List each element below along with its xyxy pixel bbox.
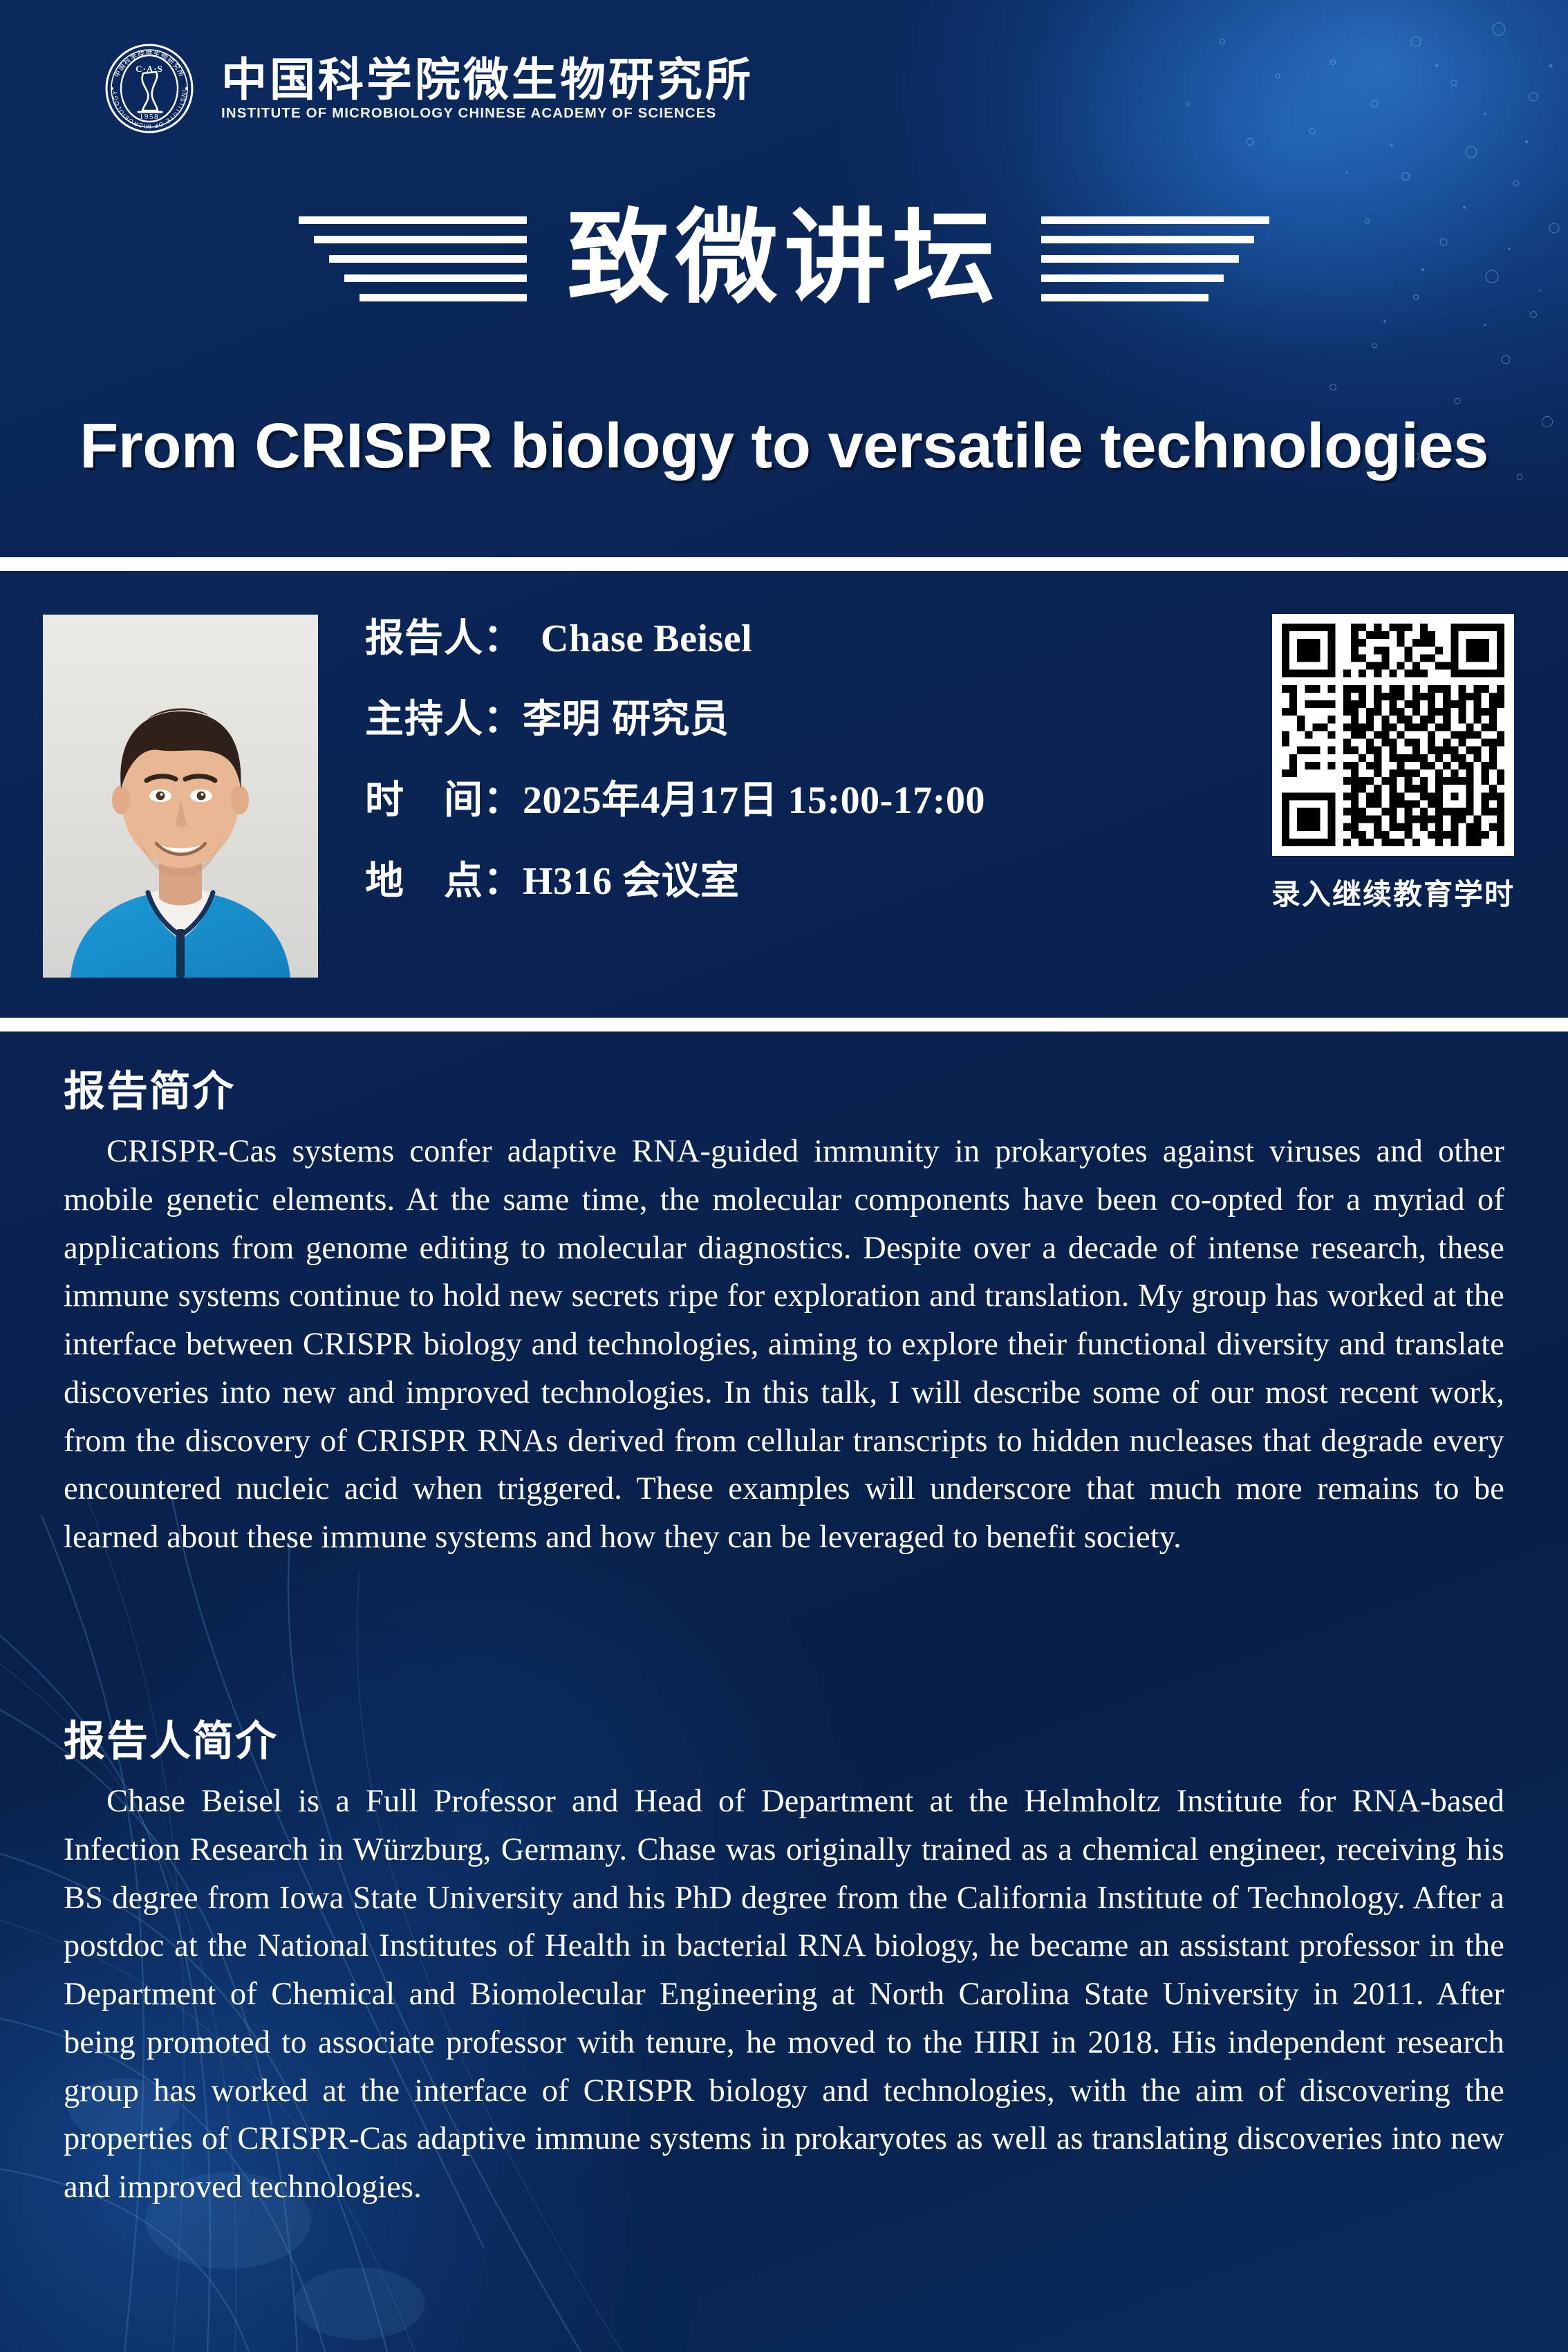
detail-label-speaker: 报告人： [365, 607, 523, 663]
talk-title-en: From CRISPR biology to versatile technol… [0, 411, 1568, 481]
divider-bottom [0, 1018, 1568, 1032]
detail-row-host: 主持人： 李明 研究员 [365, 688, 1181, 744]
detail-label-host: 主持人： [365, 688, 523, 744]
qr-block: 录入继续教育学时 [1265, 614, 1521, 913]
speaker-info-band: 报告人： Chase Beisel 主持人： 李明 研究员 时 间： 2025年… [0, 571, 1568, 1018]
speaker-portrait [43, 615, 318, 978]
svg-text:C·A·S: C·A·S [136, 64, 163, 74]
svg-text:1958: 1958 [140, 113, 159, 121]
section-title-abstract: 报告简介 [64, 1058, 1504, 1118]
section-bio: 报告人简介 Chase Beisel is a Full Professor a… [64, 1708, 1504, 2212]
organization-name-block: 中国科学院微生物研究所 INSTITUTE OF MICROBIOLOGY CH… [221, 57, 754, 121]
detail-value-location: H316 会议室 [523, 850, 740, 906]
speed-lines-right-icon [1041, 216, 1269, 301]
banner-title-cn: 致微讲坛 [567, 207, 1001, 310]
institute-header: C·A·S 1958 中国科学院微生物研究所 INSTITUTE OF MICR… [104, 43, 754, 134]
detail-row-location: 地 点： H316 会议室 [365, 850, 1181, 906]
org-name-cn: 中国科学院微生物研究所 [221, 57, 754, 102]
section-body-abstract: CRISPR-Cas systems confer adaptive RNA-g… [64, 1128, 1504, 1562]
detail-value-time: 2025年4月17日 15:00-17:00 [523, 769, 985, 825]
detail-row-speaker: 报告人： Chase Beisel [365, 607, 1181, 663]
section-abstract: 报告简介 CRISPR-Cas systems confer adaptive … [64, 1058, 1504, 1562]
detail-value-speaker: Chase Beisel [541, 617, 752, 661]
org-name-en: INSTITUTE OF MICROBIOLOGY CHINESE ACADEM… [221, 106, 754, 121]
banner-title-block: 致微讲坛 [0, 207, 1568, 310]
qr-code-icon[interactable] [1272, 614, 1514, 856]
qr-caption: 录入继续教育学时 [1265, 871, 1521, 913]
divider-top [0, 557, 1568, 571]
institute-seal-logo-icon: C·A·S 1958 中国科学院微生物研究所 INSTITUTE OF MICR… [104, 43, 195, 134]
poster-canvas: C·A·S 1958 中国科学院微生物研究所 INSTITUTE OF MICR… [0, 0, 1568, 2352]
speed-lines-left-icon [299, 216, 527, 301]
section-body-bio: Chase Beisel is a Full Professor and Hea… [64, 1777, 1504, 2212]
detail-label-time: 时 间： [365, 769, 523, 825]
detail-value-host: 李明 研究员 [523, 688, 729, 744]
section-title-bio: 报告人简介 [64, 1708, 1504, 1768]
detail-label-location: 地 点： [365, 850, 523, 906]
detail-row-time: 时 间： 2025年4月17日 15:00-17:00 [365, 769, 1181, 825]
talk-details-list: 报告人： Chase Beisel 主持人： 李明 研究员 时 间： 2025年… [365, 607, 1181, 906]
